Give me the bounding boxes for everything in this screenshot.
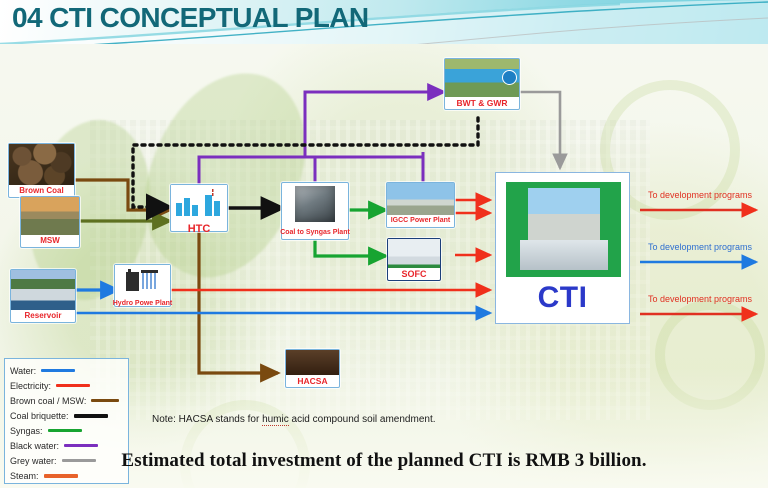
note-prefix: Note: HACSA stands for: [152, 414, 262, 425]
legend-item-brown-coal-msw: Brown coal / MSW:: [10, 393, 123, 408]
node-bwt-gwr[interactable]: BWT & GWR: [444, 58, 520, 110]
igcc-power-plant-photo: [387, 183, 454, 215]
cti-industrial-photo: [528, 188, 600, 242]
page-title: 04 CTI CONCEPTUAL PLAN: [12, 2, 369, 34]
legend-swatch-black-water: [64, 444, 98, 447]
node-hydro-power-plant[interactable]: Hydro Powe Plant: [114, 264, 171, 307]
node-label: HACSA: [297, 375, 327, 387]
sofc-plant-photo: [388, 239, 440, 268]
legend-label: Steam:: [10, 471, 39, 481]
cti-industrial-photo-secondary: [520, 240, 608, 270]
cti-label: CTI: [496, 281, 629, 315]
coal-pile-photo: [9, 144, 74, 185]
htc-plant-icon: [171, 185, 227, 223]
node-label: Coal to Syngas Plant: [280, 227, 350, 239]
water-treatment-photo: [445, 59, 519, 97]
reservoir-dam-photo: [11, 270, 75, 310]
legend-label: Coal briquette:: [10, 411, 69, 421]
node-label: IGCC Power Plant: [387, 215, 454, 227]
legend-swatch-brown-coal-msw: [91, 399, 119, 402]
htc-plant-glyph: [171, 185, 227, 218]
node-label: MSW: [40, 235, 60, 247]
node-label: Hydro Powe Plant: [113, 298, 173, 310]
legend-label: Black water:: [10, 441, 59, 451]
node-htc[interactable]: HTC: [170, 184, 228, 232]
node-coal-to-syngas-plant[interactable]: Coal to Syngas Plant: [281, 182, 349, 240]
node-label: Reservoir: [25, 310, 62, 322]
legend-swatch-water: [41, 369, 75, 372]
seedling-soil-photo: [286, 350, 339, 375]
legend-label: Brown coal / MSW:: [10, 396, 86, 406]
legend-item-electricity: Electricity:: [10, 378, 123, 393]
output-label-2: To development programs: [648, 242, 752, 252]
hydro-plant-glyph: [115, 265, 172, 293]
syngas-plant-photo: [295, 186, 335, 222]
note-text: Note: HACSA stands for humic acid compou…: [152, 414, 436, 425]
node-brown-coal[interactable]: Brown Coal: [8, 143, 75, 198]
legend-label: Syngas:: [10, 426, 43, 436]
note-suffix: acid compound soil amendment.: [289, 414, 436, 425]
legend-item-water: Water:: [10, 363, 123, 378]
node-sofc[interactable]: SOFC: [387, 238, 441, 281]
legend-swatch-syngas: [48, 429, 82, 432]
node-label: BWT & GWR: [457, 97, 508, 109]
output-label-3: To development programs: [648, 294, 752, 304]
legend-swatch-steam: [44, 474, 78, 478]
node-label: SOFC: [401, 268, 426, 280]
legend-swatch-electricity: [56, 384, 90, 387]
hydro-power-plant-icon: [115, 265, 170, 298]
node-hacsa[interactable]: HACSA: [285, 349, 340, 388]
slide-canvas: 04 CTI CONCEPTUAL PLAN: [0, 0, 768, 488]
node-cti[interactable]: CTI: [495, 172, 630, 324]
recycle-badge-icon: [502, 70, 517, 85]
legend-swatch-coal-briquette: [74, 414, 108, 418]
node-igcc-power-plant[interactable]: IGCC Power Plant: [386, 182, 455, 228]
cti-green-panel: [506, 182, 621, 277]
legend-label: Electricity:: [10, 381, 51, 391]
note-underlined-word: humic: [262, 414, 289, 426]
municipal-solid-waste-photo: [21, 197, 79, 235]
node-msw[interactable]: MSW: [20, 196, 80, 248]
footer-statement: Estimated total investment of the planne…: [0, 450, 768, 472]
node-label: HTC: [188, 223, 211, 235]
legend-item-coal-briquette: Coal briquette:: [10, 408, 123, 423]
output-label-1: To development programs: [648, 190, 752, 200]
legend-item-syngas: Syngas:: [10, 423, 123, 438]
legend-label: Water:: [10, 366, 36, 376]
slide-header: 04 CTI CONCEPTUAL PLAN: [0, 0, 768, 44]
node-reservoir[interactable]: Reservoir: [10, 269, 76, 323]
